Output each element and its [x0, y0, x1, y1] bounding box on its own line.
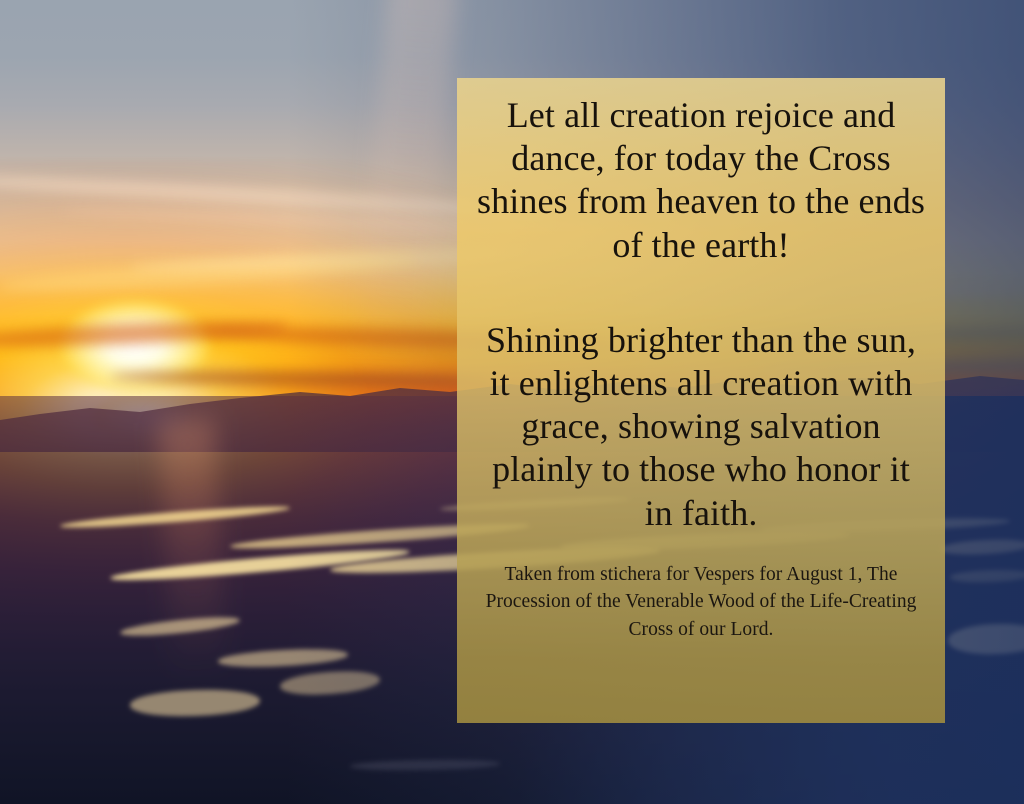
quote-graphic: Let all creation rejoice and dance, for … [0, 0, 1024, 804]
source-attribution: Taken from stichera for Vespers for Augu… [477, 561, 925, 644]
verse-paragraph-2: Shining brighter than the sun, it enligh… [477, 319, 925, 535]
quote-panel: Let all creation rejoice and dance, for … [457, 78, 945, 723]
verse-paragraph-1: Let all creation rejoice and dance, for … [477, 94, 925, 267]
paragraph-spacer [477, 267, 925, 319]
